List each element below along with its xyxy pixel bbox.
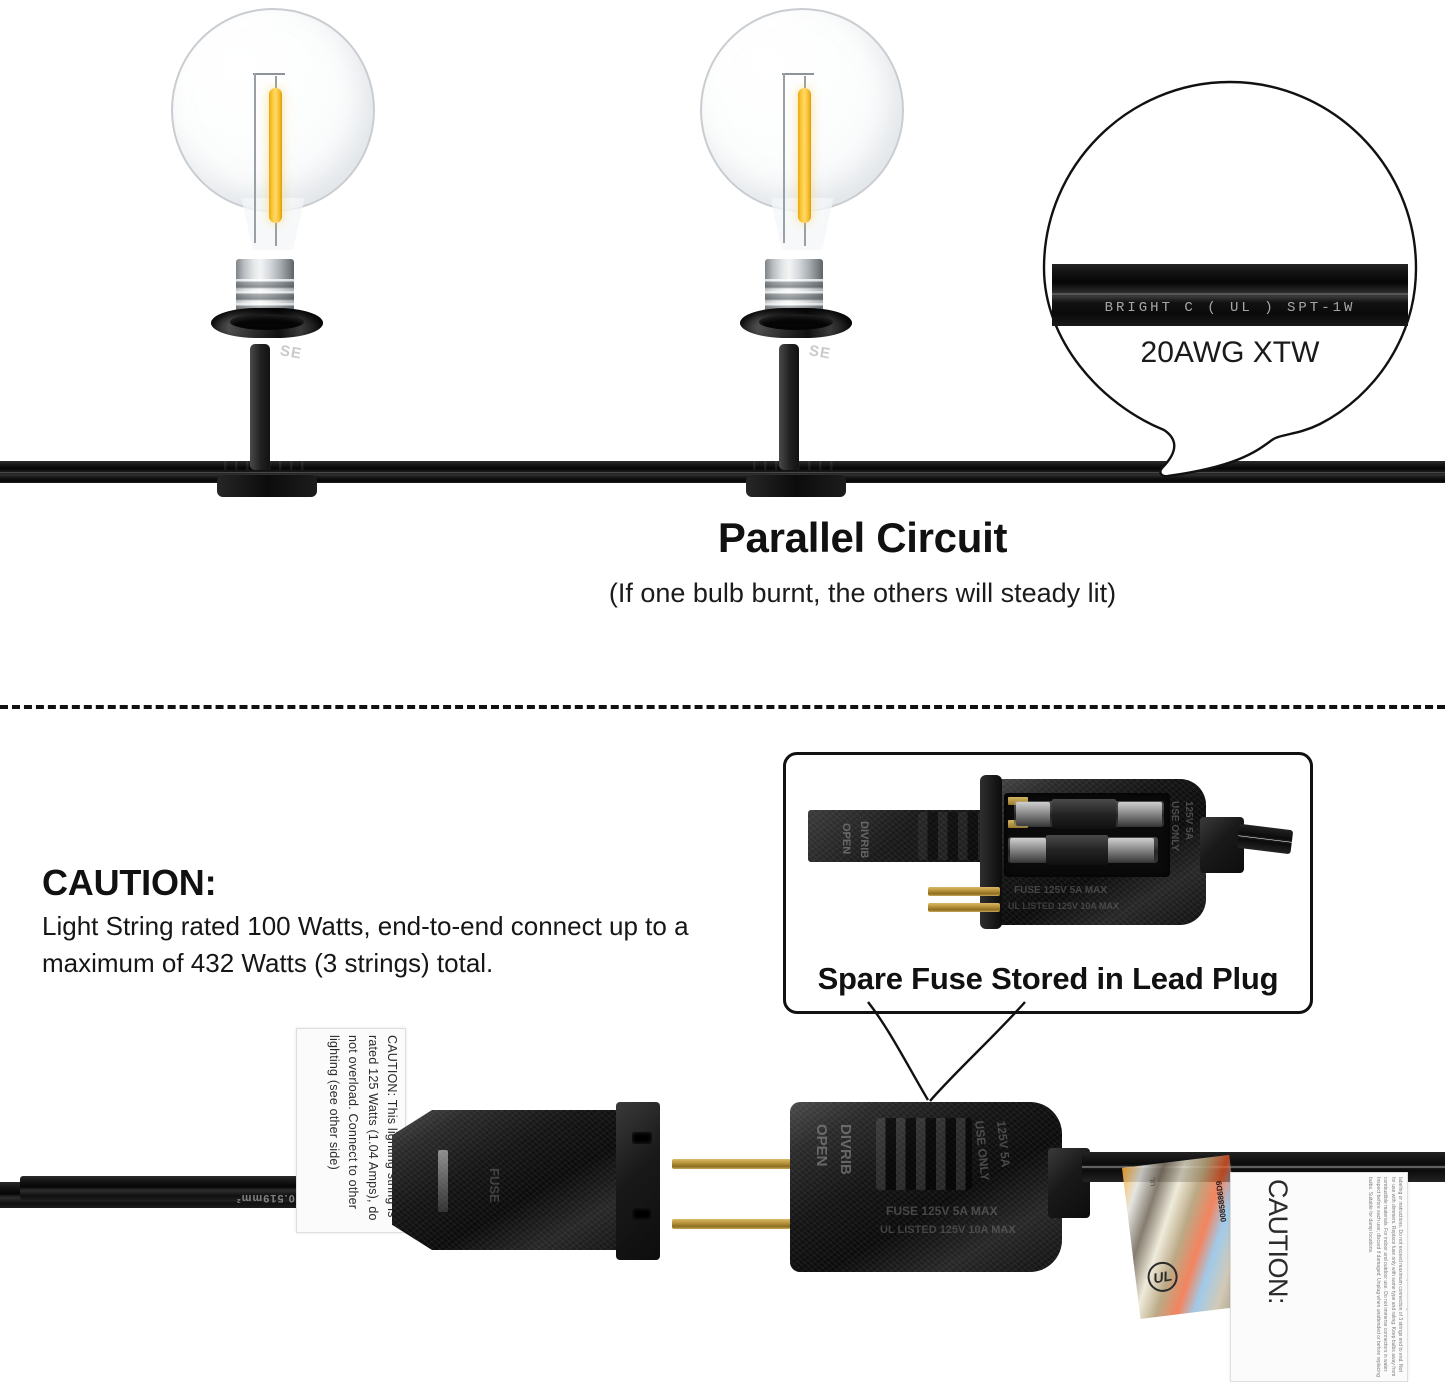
female-connector-housing bbox=[392, 1110, 642, 1250]
bulb-assembly-2: SE bbox=[692, 8, 912, 508]
female-connector: FUSE bbox=[392, 1098, 682, 1268]
female-slot-upper bbox=[632, 1132, 652, 1144]
filament-crossbar bbox=[782, 73, 814, 75]
socket-foot bbox=[217, 475, 317, 497]
fuse-cap-top-right bbox=[1118, 802, 1162, 826]
ul-holographic-label: UL 0085886D9 UL bbox=[1122, 1155, 1248, 1319]
fuse-cap-bottom-left bbox=[1010, 838, 1046, 862]
bulb-assembly-1: SE bbox=[163, 8, 383, 508]
female-connector-face bbox=[616, 1102, 660, 1260]
parallel-circuit-heading: Parallel Circuit bbox=[140, 514, 1445, 562]
plug-emboss-divrib: DIVRIB bbox=[858, 821, 870, 858]
socket-cavity bbox=[230, 314, 304, 330]
right-caution-tag-fine-print: Risk of fire and electric shock. Do not … bbox=[1366, 1177, 1408, 1379]
led-filament bbox=[269, 88, 282, 223]
led-filament bbox=[798, 88, 811, 223]
plug-emboss-use-only: USE ONLY bbox=[1169, 801, 1180, 851]
parallel-circuit-panel: SE SE bbox=[0, 0, 1445, 707]
parallel-circuit-subheading: (If one bulb burnt, the others will stea… bbox=[140, 578, 1445, 609]
ul-label-text-line: UL bbox=[1149, 1177, 1157, 1187]
female-connector-caution-tag: CAUTION: This lighting string is rated 1… bbox=[296, 1028, 406, 1233]
lamp-socket: SE bbox=[218, 316, 316, 486]
spare-fuse-label: Spare Fuse Stored in Lead Plug bbox=[786, 961, 1310, 997]
magnified-wire: BRIGHT C ( UL ) SPT-1W bbox=[1052, 264, 1408, 326]
socket-rim bbox=[211, 308, 323, 338]
socket-rim bbox=[740, 308, 852, 338]
male-emboss-open: OPEN bbox=[813, 1124, 830, 1167]
plug-texture bbox=[392, 1110, 642, 1250]
lamp-socket: SE bbox=[747, 316, 845, 486]
wire-print-text: BRIGHT C ( UL ) SPT-1W bbox=[1052, 300, 1408, 316]
fuse-cartridge-bottom-body bbox=[1046, 835, 1108, 865]
glass-highlight bbox=[196, 30, 261, 105]
filament-stem-left bbox=[254, 73, 256, 243]
fuse-cartridge-top-body bbox=[1052, 799, 1116, 829]
ul-mark-icon: UL bbox=[1145, 1259, 1180, 1294]
filament-crossbar bbox=[253, 73, 285, 75]
spare-fuse-callout-box: OPEN DIVRIB bbox=[783, 752, 1313, 1014]
caution-body-text: Light String rated 100 Watts, end-to-end… bbox=[42, 908, 732, 982]
male-plug-ribs bbox=[876, 1118, 972, 1190]
wire-seam bbox=[1052, 293, 1408, 295]
male-emboss-rating-1: FUSE 125V 5A MAX bbox=[886, 1204, 998, 1218]
socket-foot bbox=[746, 475, 846, 497]
plug-emboss-open: OPEN bbox=[840, 823, 852, 854]
plug-prong-upper bbox=[928, 887, 1000, 896]
socket-cavity bbox=[759, 314, 833, 330]
plug-prong-lower bbox=[928, 903, 1000, 912]
caution-tag-text: CAUTION: This lighting string is rated 1… bbox=[324, 1035, 402, 1231]
right-caution-tag: CAUTION: Risk of fire and electric shock… bbox=[1230, 1172, 1408, 1382]
fuse-cap-top-left bbox=[1016, 802, 1050, 826]
plug-cord bbox=[1237, 824, 1294, 854]
female-slot-lower bbox=[632, 1208, 652, 1220]
female-highlight-strip bbox=[438, 1150, 448, 1212]
male-emboss-rating-2: UL LISTED 125V 10A MAX bbox=[880, 1224, 1016, 1236]
male-emboss-divrib: DIVRIB bbox=[837, 1124, 854, 1175]
caution-heading: CAUTION: bbox=[42, 862, 732, 904]
socket-tab bbox=[250, 344, 270, 470]
wire-gauge-callout: BRIGHT C ( UL ) SPT-1W 20AWG XTW bbox=[1040, 78, 1420, 488]
socket-emboss-label: SE bbox=[808, 342, 833, 363]
filament-stem-left bbox=[783, 73, 785, 243]
male-lead-plug: OPEN DIVRIB USE ONLY 125V 5A FUSE 125V 5… bbox=[790, 1096, 1110, 1286]
infographic-canvas: SE SE bbox=[0, 0, 1445, 1382]
right-caution-tag-title: CAUTION: bbox=[1262, 1179, 1293, 1304]
wire-gauge-label: 20AWG XTW bbox=[1040, 336, 1420, 370]
section-divider bbox=[0, 705, 1445, 709]
male-prong-upper bbox=[672, 1159, 802, 1169]
female-emboss-marks: FUSE bbox=[487, 1168, 502, 1203]
ul-label-number: 0085886D9 bbox=[1214, 1180, 1228, 1222]
socket-emboss-label: SE bbox=[279, 342, 304, 363]
male-prong-lower bbox=[672, 1219, 802, 1229]
plug-emboss-rating-1: FUSE 125V 5A MAX bbox=[1014, 885, 1107, 896]
fuse-cap-bottom-right bbox=[1108, 838, 1154, 862]
glass-highlight bbox=[725, 30, 790, 105]
caution-text-block: CAUTION: Light String rated 100 Watts, e… bbox=[42, 862, 732, 982]
socket-tab bbox=[779, 344, 799, 470]
opened-lead-plug: OPEN DIVRIB bbox=[808, 775, 1288, 925]
plug-emboss-volts: 125V 5A bbox=[1183, 801, 1194, 840]
plug-emboss-rating-2: UL LISTED 125V 10A MAX bbox=[1008, 901, 1119, 911]
